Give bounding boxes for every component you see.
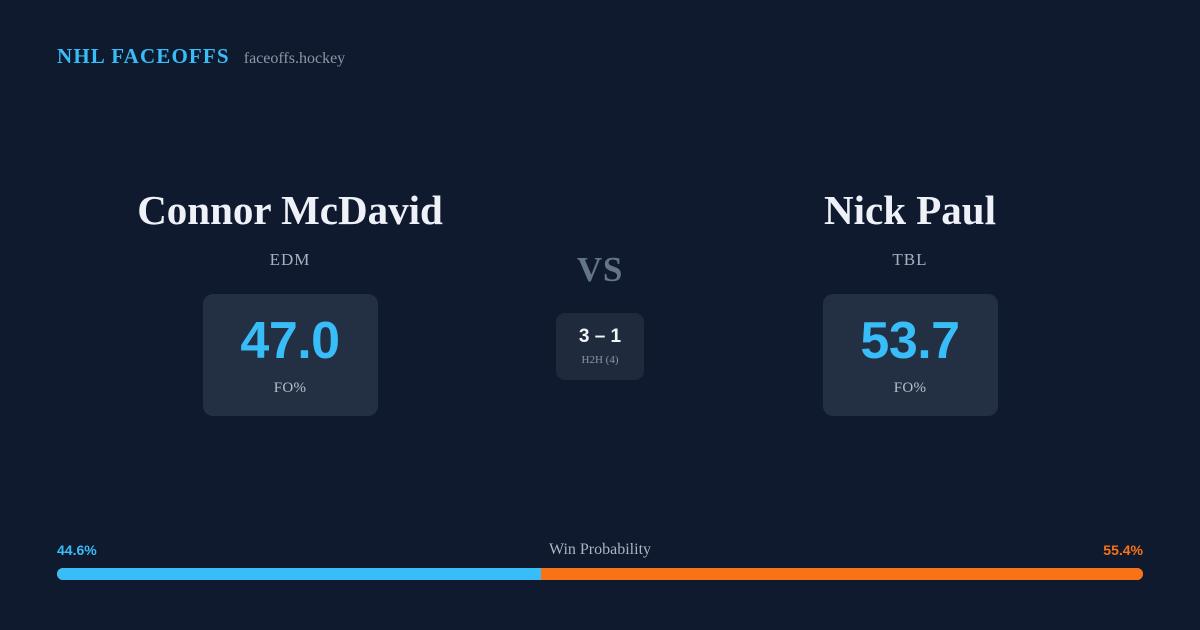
head-to-head-card: 3 – 1 H2H (4) <box>556 313 644 380</box>
home-player-block: Connor McDavid EDM 47.0 FO% <box>80 190 500 416</box>
win-probability-section: 44.6% Win Probability 55.4% <box>57 540 1143 580</box>
brand-domain: faceoffs.hockey <box>244 51 345 67</box>
win-probability-labels: 44.6% Win Probability 55.4% <box>57 540 1143 560</box>
versus-label: VS <box>500 252 700 287</box>
win-probability-away-fill <box>541 568 1143 580</box>
win-probability-title: Win Probability <box>549 540 651 560</box>
win-probability-bar <box>57 568 1143 580</box>
away-player-name: Nick Paul <box>700 190 1120 231</box>
matchup-graphic: NHL FACEOFFS faceoffs.hockey Connor McDa… <box>0 0 1200 630</box>
win-probability-home-value: 44.6% <box>57 540 97 560</box>
away-stat-label: FO% <box>894 381 927 396</box>
away-player-block: Nick Paul TBL 53.7 FO% <box>700 190 1120 416</box>
win-probability-away-value: 55.4% <box>1103 540 1143 560</box>
brand-title: NHL FACEOFFS <box>57 46 230 67</box>
matchup-section: Connor McDavid EDM 47.0 FO% VS 3 – 1 H2H… <box>0 190 1200 430</box>
brand-header: NHL FACEOFFS faceoffs.hockey <box>57 46 345 67</box>
away-player-team: TBL <box>700 251 1120 268</box>
head-to-head-score: 3 – 1 <box>579 327 621 346</box>
home-player-team: EDM <box>80 251 500 268</box>
away-stat-value: 53.7 <box>860 315 959 367</box>
home-stat-label: FO% <box>274 381 307 396</box>
home-stat-value: 47.0 <box>240 315 339 367</box>
win-probability-home-fill <box>57 568 541 580</box>
versus-block: VS 3 – 1 H2H (4) <box>500 190 700 380</box>
away-stat-card: 53.7 FO% <box>823 294 998 416</box>
home-stat-card: 47.0 FO% <box>203 294 378 416</box>
head-to-head-label: H2H (4) <box>582 355 619 366</box>
home-player-name: Connor McDavid <box>80 190 500 231</box>
